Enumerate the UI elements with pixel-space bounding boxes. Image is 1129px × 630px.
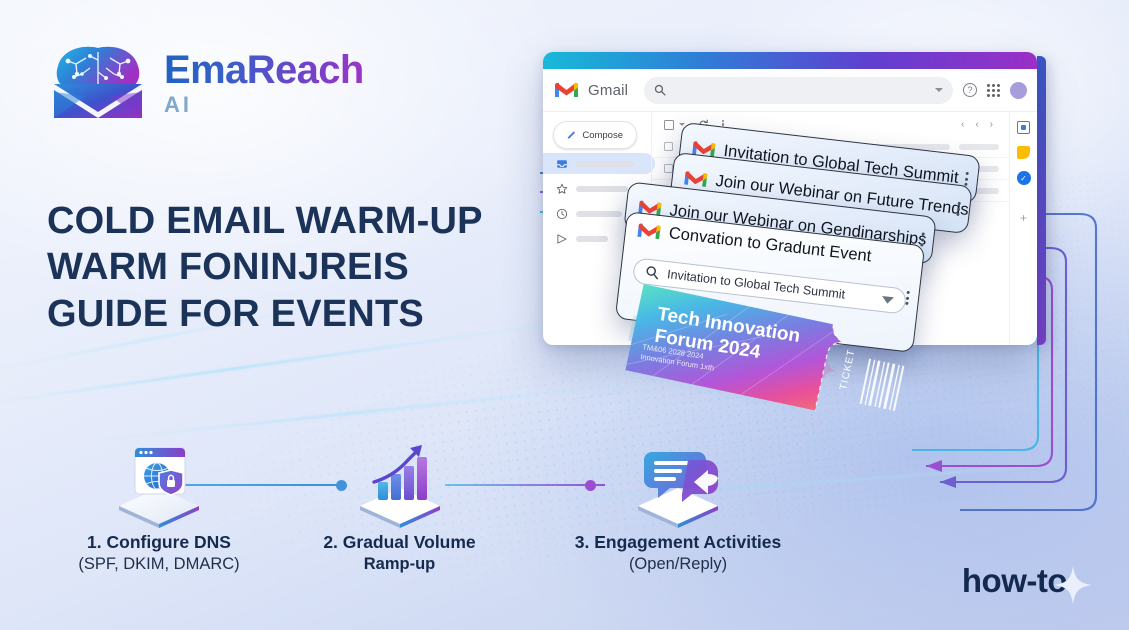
compose-label: Compose: [582, 130, 623, 141]
search-input[interactable]: [644, 77, 953, 104]
gmail-m-icon: [555, 81, 578, 99]
step-title: 3. Engagement Activities: [528, 532, 828, 553]
kebab-menu-icon[interactable]: [905, 291, 910, 305]
row-date-placeholder: [959, 144, 999, 150]
ticket-stub-label: TICKET: [838, 348, 857, 391]
calendar-icon[interactable]: [1017, 121, 1030, 134]
gmail-m-icon: [684, 169, 708, 188]
window-right-edge: [1037, 56, 1046, 345]
process-step: 2. Gradual Volume Ramp-up: [278, 436, 521, 574]
chevron-left-icon[interactable]: ‹: [961, 119, 964, 130]
avatar[interactable]: [1010, 82, 1027, 99]
chevron-left-icon[interactable]: ‹: [975, 119, 978, 130]
watermark: how-to: [962, 562, 1095, 600]
checkbox-icon[interactable]: [664, 120, 674, 130]
step-icon-wrap: [24, 436, 294, 528]
chevron-down-icon[interactable]: [935, 88, 943, 92]
headline-line-3: GUIDE FOR EVENTS: [47, 291, 483, 337]
plus-icon[interactable]: +: [1020, 211, 1027, 225]
sidebar-item-label: [576, 236, 608, 242]
process-step: 3. Engagement Activities (Open/Reply): [528, 436, 828, 574]
reply-speech-bubble-icon: [630, 440, 726, 528]
kebab-menu-icon[interactable]: [964, 172, 969, 186]
gmail-wordmark: Gmail: [588, 82, 628, 99]
sparkle-icon: [1051, 563, 1095, 607]
step-title: 1. Configure DNS: [24, 532, 294, 553]
sidebar-item-inbox[interactable]: [543, 153, 655, 174]
gmail-side-panel: ✓ +: [1009, 112, 1037, 345]
process-step: 1. Configure DNS (SPF, DKIM, DMARC): [24, 436, 294, 574]
star-icon: [556, 183, 568, 195]
compose-button[interactable]: Compose: [553, 121, 637, 149]
keep-note-icon[interactable]: [1017, 146, 1030, 159]
sidebar-item-label: [576, 211, 622, 217]
headline-line-2: WARM FONINJREIS: [47, 244, 483, 290]
growth-bar-chart-icon: [352, 440, 448, 528]
search-icon: [654, 84, 666, 96]
pencil-icon: [567, 130, 575, 140]
brand-sublabel: AI: [164, 94, 364, 116]
send-icon: [556, 233, 568, 245]
step-subtitle: (SPF, DKIM, DMARC): [24, 555, 294, 574]
sidebar-item-label: [576, 161, 634, 167]
window-titlebar: [543, 52, 1037, 69]
brain-envelope-icon: [46, 44, 150, 122]
brand-name: EmaReach: [164, 50, 364, 90]
clock-icon: [556, 208, 568, 220]
step-icon-wrap: [278, 436, 521, 528]
inbox-icon: [556, 158, 568, 170]
page-title: COLD EMAIL WARM-UP WARM FONINJREIS GUIDE…: [47, 198, 483, 337]
process-steps: 1. Configure DNS (SPF, DKIM, DMARC): [0, 436, 1129, 606]
step-subtitle: (Open/Reply): [528, 555, 828, 574]
step-icon-wrap: [528, 436, 828, 528]
chevron-down-icon[interactable]: [881, 295, 894, 303]
pager: ‹ ‹ ›: [961, 119, 999, 130]
dns-globe-shield-icon: [111, 440, 207, 528]
chevron-right-icon[interactable]: ›: [990, 119, 993, 130]
headline-line-1: COLD EMAIL WARM-UP: [47, 198, 483, 244]
checkbox-icon[interactable]: [664, 142, 673, 151]
gmail-header: Gmail ?: [543, 69, 1037, 112]
tasks-check-icon[interactable]: ✓: [1017, 171, 1031, 185]
apps-grid-icon[interactable]: [987, 84, 1000, 97]
step-title: 2. Gradual Volume: [278, 532, 521, 553]
help-circle-icon[interactable]: ?: [963, 83, 977, 97]
gmail-m-icon: [637, 222, 661, 241]
barcode: [860, 359, 905, 411]
step-subtitle: Ramp-up: [278, 555, 521, 574]
brand-logo: EmaReach AI: [46, 44, 364, 122]
sidebar-item-label: [576, 186, 628, 192]
